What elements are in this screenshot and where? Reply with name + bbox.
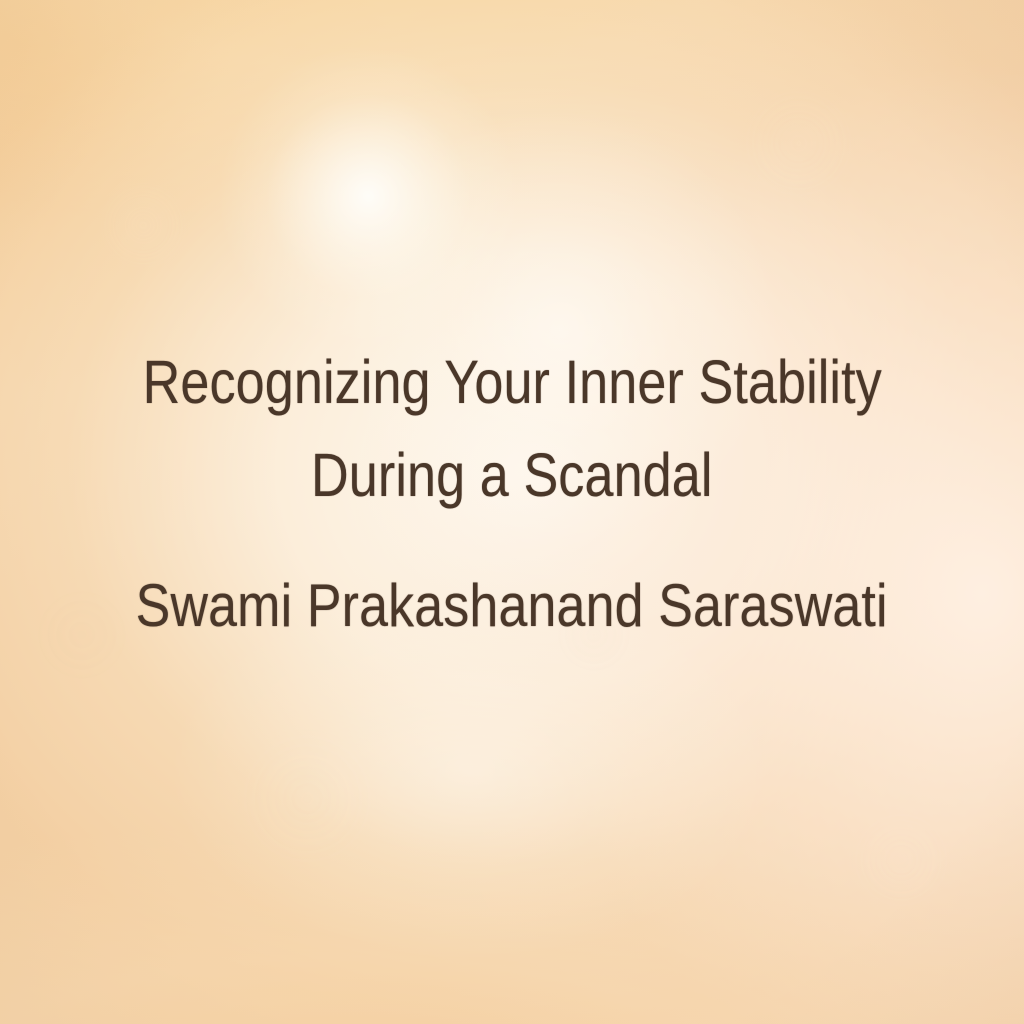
title-line-1: Recognizing Your Inner Stability: [142, 352, 881, 413]
title-card-slide: Recognizing Your Inner Stability During …: [0, 0, 1024, 1024]
title-text-block: Recognizing Your Inner Stability During …: [0, 0, 1024, 1024]
title-line-2: During a Scandal: [311, 445, 712, 506]
author-name: Swami Prakashanand Saraswati: [136, 576, 888, 636]
